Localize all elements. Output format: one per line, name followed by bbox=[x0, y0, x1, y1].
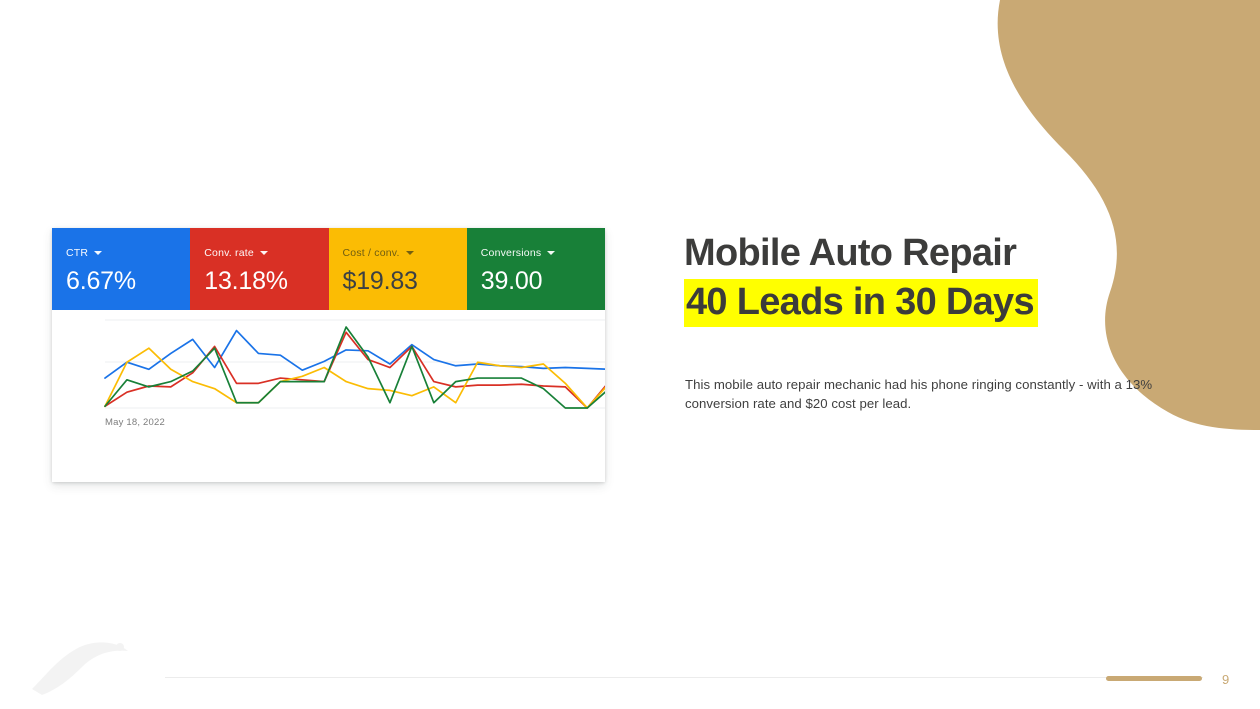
metric-tiles-row: CTR 6.67% Conv. rate 13.18% Cost / conv.… bbox=[52, 228, 605, 310]
headline-highlight: 40 Leads in 30 Days bbox=[684, 279, 1038, 327]
metric-label-cost-per-conv: Cost / conv. bbox=[343, 246, 400, 260]
metric-label-conv-rate: Conv. rate bbox=[204, 246, 254, 260]
metric-value-cost-per-conv: $19.83 bbox=[343, 266, 467, 296]
metric-header-cost-per-conv[interactable]: Cost / conv. bbox=[343, 246, 467, 260]
metric-header-conv-rate[interactable]: Conv. rate bbox=[204, 246, 328, 260]
metric-label-conversions: Conversions bbox=[481, 246, 542, 260]
metric-tile-conversions[interactable]: Conversions 39.00 bbox=[467, 228, 605, 310]
headline-line-2-wrapper: 40 Leads in 30 Days bbox=[684, 278, 1038, 327]
subcopy-paragraph: This mobile auto repair mechanic had his… bbox=[685, 375, 1170, 414]
chart-gridlines bbox=[105, 320, 605, 408]
metric-value-ctr: 6.67% bbox=[66, 266, 190, 296]
performance-line-chart: May 18, 2022 bbox=[52, 310, 605, 482]
page-title: Mobile Auto Repair 40 Leads in 30 Days bbox=[684, 229, 1154, 327]
chart-line-conv-rate bbox=[105, 332, 605, 408]
metric-tile-ctr[interactable]: CTR 6.67% bbox=[52, 228, 190, 310]
metric-tile-cost-per-conv[interactable]: Cost / conv. $19.83 bbox=[329, 228, 467, 310]
metric-label-ctr: CTR bbox=[66, 246, 88, 260]
metric-value-conv-rate: 13.18% bbox=[204, 266, 328, 296]
chevron-down-icon[interactable] bbox=[260, 251, 268, 255]
brand-watermark-icon bbox=[24, 631, 154, 701]
headline-line-1: Mobile Auto Repair bbox=[684, 229, 1154, 278]
line-chart-svg bbox=[52, 310, 605, 482]
google-ads-performance-card: CTR 6.67% Conv. rate 13.18% Cost / conv.… bbox=[52, 228, 605, 482]
chevron-down-icon[interactable] bbox=[94, 251, 102, 255]
decorative-wave-shape bbox=[960, 0, 1260, 430]
footer-accent-bar bbox=[1106, 676, 1202, 681]
page-number: 9 bbox=[1222, 672, 1244, 687]
chart-date-label: May 18, 2022 bbox=[105, 417, 165, 428]
slide-canvas: CTR 6.67% Conv. rate 13.18% Cost / conv.… bbox=[0, 0, 1260, 709]
metric-header-conversions[interactable]: Conversions bbox=[481, 246, 605, 260]
chart-line-ctr bbox=[105, 331, 605, 379]
chevron-down-icon[interactable] bbox=[547, 251, 555, 255]
footer-divider bbox=[165, 677, 1203, 678]
chevron-down-icon[interactable] bbox=[406, 251, 414, 255]
chart-series-group bbox=[105, 327, 605, 408]
metric-value-conversions: 39.00 bbox=[481, 266, 605, 296]
metric-tile-conv-rate[interactable]: Conv. rate 13.18% bbox=[190, 228, 328, 310]
metric-header-ctr[interactable]: CTR bbox=[66, 246, 190, 260]
